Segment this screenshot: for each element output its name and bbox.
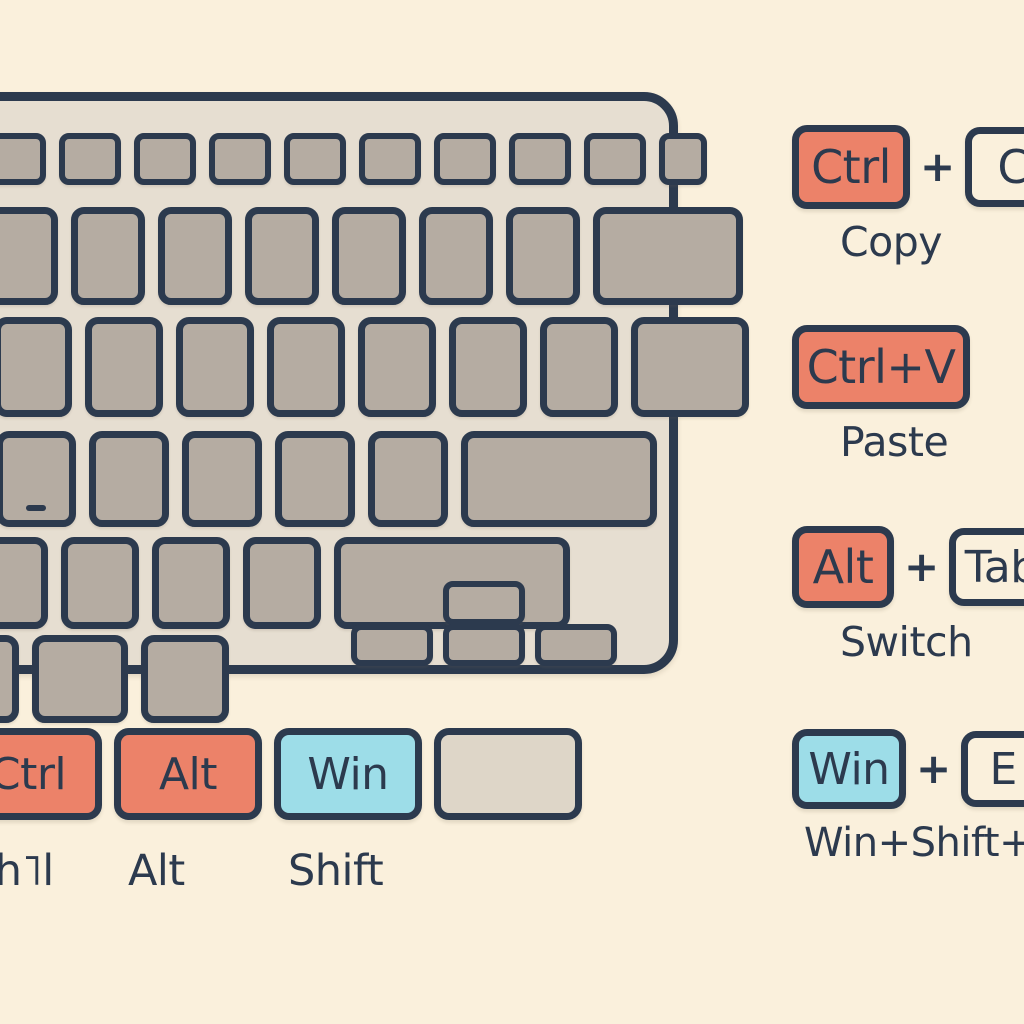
keycap[interactable] <box>631 317 749 417</box>
illustration-canvas: Ctrl + C Copy Ctrl+V Paste Alt + Tab Swi… <box>0 0 1024 1024</box>
keycap[interactable] <box>59 133 121 185</box>
key-chip-win[interactable]: Win <box>792 729 906 809</box>
legend-item-ctrl: Ctrl Sh˥l <box>0 728 114 896</box>
legend-caption-alt: Alt <box>114 846 185 896</box>
keycap[interactable] <box>32 635 128 723</box>
shortcut-explorer: Win + E Win+Shift+ <box>792 730 1024 866</box>
plus-separator: + <box>904 546 939 588</box>
keyboard-row-top <box>0 317 762 417</box>
shortcut-paste: Ctrl+V Paste <box>792 328 1024 466</box>
keycap[interactable] <box>0 431 76 527</box>
keycap[interactable] <box>0 133 46 185</box>
keyboard-row-home <box>0 431 670 527</box>
key-chip-e[interactable]: E <box>961 731 1024 807</box>
keycap[interactable] <box>158 207 232 305</box>
keycap[interactable] <box>134 133 196 185</box>
shortcut-explorer-caption: Win+Shift+ <box>792 820 1024 866</box>
keycap[interactable] <box>176 317 254 417</box>
keyboard-row-number <box>0 207 756 305</box>
keycap[interactable] <box>506 207 580 305</box>
keycap[interactable] <box>209 133 271 185</box>
keycap[interactable] <box>461 431 657 527</box>
key-chip-blank[interactable] <box>434 728 582 820</box>
keycap[interactable] <box>61 537 139 629</box>
bottom-key-legend: Ctrl Sh˥l Alt Alt Win Shift <box>0 728 594 896</box>
keycap[interactable] <box>141 635 229 723</box>
key-chip-alt[interactable]: Alt <box>114 728 262 820</box>
shortcut-copy: Ctrl + C Copy <box>792 128 1024 266</box>
keycap[interactable] <box>0 207 58 305</box>
legend-item-blank <box>434 728 594 846</box>
key-chip-tab[interactable]: Tab <box>949 528 1024 606</box>
keycap[interactable] <box>659 133 707 185</box>
shortcut-copy-keys: Ctrl + C <box>792 128 1024 206</box>
keycap[interactable] <box>275 431 355 527</box>
keycap[interactable] <box>0 537 48 629</box>
arrow-key-cluster <box>351 581 627 666</box>
key-chip-win[interactable]: Win <box>274 728 422 820</box>
arrow-right-key[interactable] <box>535 624 617 666</box>
shortcut-switch-keys: Alt + Tab <box>792 528 1024 606</box>
shortcut-explorer-keys: Win + E <box>792 730 1024 808</box>
keycap[interactable] <box>359 133 421 185</box>
legend-caption-ctrl: Sh˥l <box>0 846 54 896</box>
key-chip-ctrl[interactable]: Ctrl <box>792 125 910 209</box>
keycap[interactable] <box>449 317 527 417</box>
legend-item-alt: Alt Alt <box>114 728 274 896</box>
keycap[interactable] <box>0 317 72 417</box>
keycap[interactable] <box>434 133 496 185</box>
keyboard-row-modifier <box>0 635 242 723</box>
keycap[interactable] <box>245 207 319 305</box>
shortcut-paste-keys: Ctrl+V <box>792 328 1024 406</box>
homing-bar-icon <box>26 505 46 511</box>
legend-caption-win: Shift <box>274 846 383 896</box>
key-chip-ctrl-v[interactable]: Ctrl+V <box>792 325 970 409</box>
shortcut-copy-caption: Copy <box>792 218 1024 266</box>
keycap[interactable] <box>509 133 571 185</box>
shortcut-switch: Alt + Tab Switch <box>792 528 1024 666</box>
key-chip-ctrl[interactable]: Ctrl <box>0 728 102 820</box>
keycap[interactable] <box>540 317 618 417</box>
arrow-down-key[interactable] <box>443 624 525 666</box>
legend-item-win: Win Shift <box>274 728 434 896</box>
keycap[interactable] <box>584 133 646 185</box>
key-chip-c[interactable]: C <box>965 127 1024 207</box>
keycap[interactable] <box>332 207 406 305</box>
plus-separator: + <box>916 748 951 790</box>
arrow-up-key[interactable] <box>443 581 525 625</box>
keyboard-row-function <box>0 133 720 185</box>
keycap[interactable] <box>71 207 145 305</box>
key-chip-alt[interactable]: Alt <box>792 526 894 608</box>
plus-separator: + <box>920 146 955 188</box>
keycap[interactable] <box>267 317 345 417</box>
arrow-left-key[interactable] <box>351 624 433 666</box>
keycap[interactable] <box>284 133 346 185</box>
keycap[interactable] <box>368 431 448 527</box>
keycap[interactable] <box>243 537 321 629</box>
keycap[interactable] <box>182 431 262 527</box>
keycap[interactable] <box>0 635 19 723</box>
keycap[interactable] <box>358 317 436 417</box>
shortcut-switch-caption: Switch <box>792 618 1024 666</box>
keycap[interactable] <box>419 207 493 305</box>
shortcut-paste-caption: Paste <box>792 418 1024 466</box>
keyboard-illustration <box>0 92 678 674</box>
keycap[interactable] <box>89 431 169 527</box>
keycap[interactable] <box>152 537 230 629</box>
keycap[interactable] <box>85 317 163 417</box>
keycap[interactable] <box>593 207 743 305</box>
arrow-vertical-pair <box>443 581 525 666</box>
